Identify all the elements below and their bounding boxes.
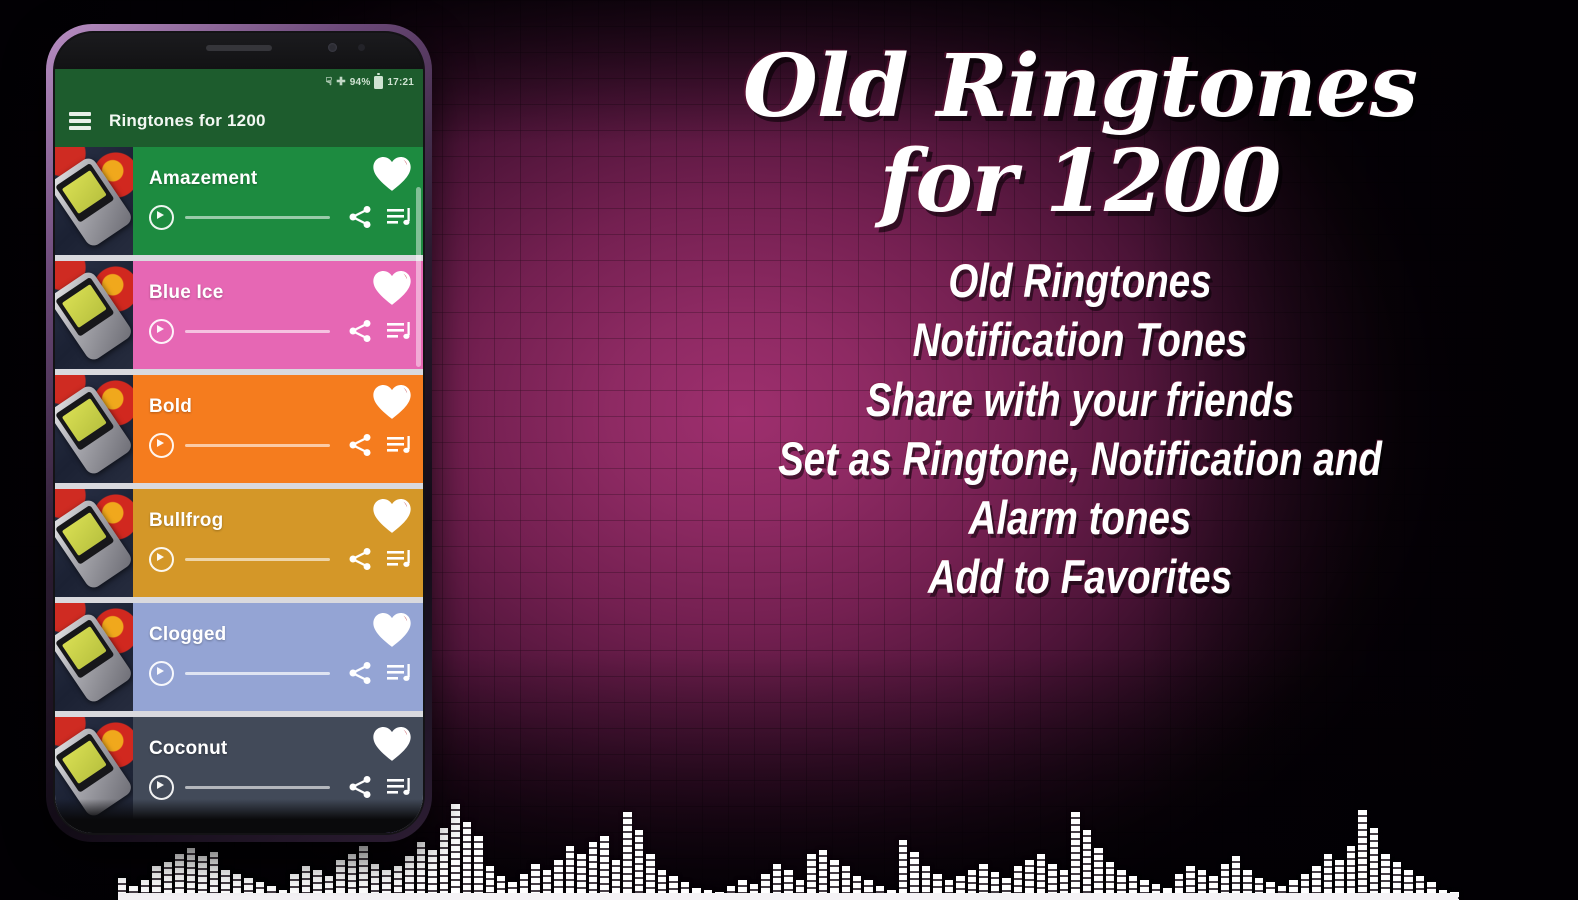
feature-line: Old Ringtones [686,251,1473,310]
bluetooth-icon: ✚ [336,77,345,88]
play-circle-icon[interactable] [149,661,174,686]
playlist-music-icon[interactable] [387,546,413,572]
feature-line: Add to Favorites [686,547,1473,606]
equalizer-bar [635,830,643,900]
playlist-music-icon[interactable] [387,432,413,458]
equalizer-bar [1347,846,1355,900]
heart-icon[interactable] [373,385,411,420]
app-bar: Ringtones for 1200 [55,95,423,147]
playlist-music-icon[interactable] [387,318,413,344]
share-icon[interactable] [347,204,373,230]
equalizer-bar [1358,810,1366,900]
ringtone-controls [149,204,413,230]
play-circle-icon[interactable] [149,775,174,800]
seek-bar[interactable] [185,330,330,333]
page-title: Old Ringtones for 1200 [600,46,1560,223]
equalizer-bar [589,842,597,900]
equalizer-bar [623,812,631,900]
ringtone-row-body[interactable]: Blue Ice [133,261,423,369]
play-circle-icon[interactable] [149,547,174,572]
seek-bar[interactable] [185,672,330,675]
equalizer-bar [566,846,574,900]
equalizer-bar [1083,830,1091,900]
equalizer-bar [451,804,459,900]
ringtone-row-partial[interactable] [55,831,423,833]
feature-line: Notification Tones [686,310,1473,369]
ringtone-actions [347,204,413,230]
equalizer-baseline [118,893,1458,900]
retro-phone-icon [55,717,133,825]
share-icon[interactable] [347,318,373,344]
retro-phone-icon [55,603,133,711]
status-bar-clock: 17:21 [387,77,414,88]
ringtone-row-body[interactable]: Bold [133,375,423,483]
equalizer-bar [899,840,907,900]
feature-line: Alarm tones [686,488,1473,547]
ringtone-actions [347,318,413,344]
ringtone-controls [149,660,413,686]
equalizer-bar [359,846,367,900]
ringtone-controls [149,432,413,458]
equalizer-bar [600,836,608,900]
ringtone-row-body[interactable]: Bullfrog [133,489,423,597]
ringtone-row[interactable]: Amazement [55,147,423,255]
app-bar-title: Ringtones for 1200 [109,111,266,131]
phone-body: ☟ ✚ 94% 17:21 Ringtones for 1200 Amazeme… [53,31,425,835]
retro-phone-icon [55,831,133,833]
phone-top-bezel [55,33,423,69]
retro-phone-icon [55,489,133,597]
cast-icon: ☟ [325,77,332,88]
equalizer-bar [463,822,471,900]
ringtone-list[interactable]: AmazementBlue IceBoldBullfrogCloggedCoco… [55,147,423,833]
battery-percent-label: 94% [350,77,371,88]
playlist-music-icon[interactable] [387,774,413,800]
feature-line: Set as Ringtone, Notification and [686,429,1473,488]
retro-phone-icon [55,375,133,483]
share-icon[interactable] [347,546,373,572]
retro-phone-icon [55,261,133,369]
promo-title-line2: for 1200 [600,141,1560,224]
promo-title-line1: Old Ringtones [743,36,1417,137]
playlist-music-icon[interactable] [387,204,413,230]
phone-screen: ☟ ✚ 94% 17:21 Ringtones for 1200 Amazeme… [55,69,423,833]
ringtone-row-body[interactable] [133,831,423,833]
ringtone-actions [347,432,413,458]
ringtone-row[interactable]: Coconut [55,717,423,825]
heart-icon[interactable] [373,727,411,762]
play-circle-icon[interactable] [149,205,174,230]
retro-phone-icon [55,147,133,255]
ringtone-row[interactable]: Blue Ice [55,261,423,369]
ringtone-row-body[interactable]: Amazement [133,147,423,255]
ringtone-controls [149,546,413,572]
hamburger-menu-icon[interactable] [69,112,91,130]
feature-line: Share with your friends [686,370,1473,429]
heart-icon[interactable] [373,271,411,306]
ringtone-controls [149,318,413,344]
equalizer-bar [417,842,425,900]
seek-bar[interactable] [185,786,330,789]
equalizer-bar [1370,828,1378,900]
ringtone-actions [347,774,413,800]
playlist-music-icon[interactable] [387,660,413,686]
ringtone-row-body[interactable]: Clogged [133,603,423,711]
earpiece-speaker [206,45,272,51]
share-icon[interactable] [347,774,373,800]
proximity-sensor-icon [358,44,365,51]
seek-bar[interactable] [185,558,330,561]
share-icon[interactable] [347,432,373,458]
list-scrollbar[interactable] [416,187,421,367]
equalizer-bar [1071,812,1079,900]
heart-icon[interactable] [373,499,411,534]
play-circle-icon[interactable] [149,433,174,458]
equalizer-bar [474,836,482,900]
equalizer-bar [440,828,448,900]
ringtone-row[interactable]: Bullfrog [55,489,423,597]
feature-list: Old RingtonesNotification TonesShare wit… [600,251,1560,606]
front-camera-icon [328,43,337,52]
ringtone-actions [347,546,413,572]
ringtone-row[interactable]: Clogged [55,603,423,711]
share-icon[interactable] [347,660,373,686]
ringtone-actions [347,660,413,686]
heart-icon[interactable] [373,157,411,192]
heart-icon[interactable] [373,613,411,648]
promo-banner: Old Ringtones for 1200 Old RingtonesNoti… [0,0,1578,900]
ringtone-controls [149,774,413,800]
play-circle-icon[interactable] [149,319,174,344]
phone-mockup: ☟ ✚ 94% 17:21 Ringtones for 1200 Amazeme… [46,24,432,842]
status-bar: ☟ ✚ 94% 17:21 [55,69,423,95]
seek-bar[interactable] [185,444,330,447]
battery-icon [374,76,383,89]
ringtone-row[interactable]: Bold [55,375,423,483]
ringtone-row-body[interactable]: Coconut [133,717,423,825]
seek-bar[interactable] [185,216,330,219]
promo-text-block: Old Ringtones for 1200 Old RingtonesNoti… [600,46,1560,606]
